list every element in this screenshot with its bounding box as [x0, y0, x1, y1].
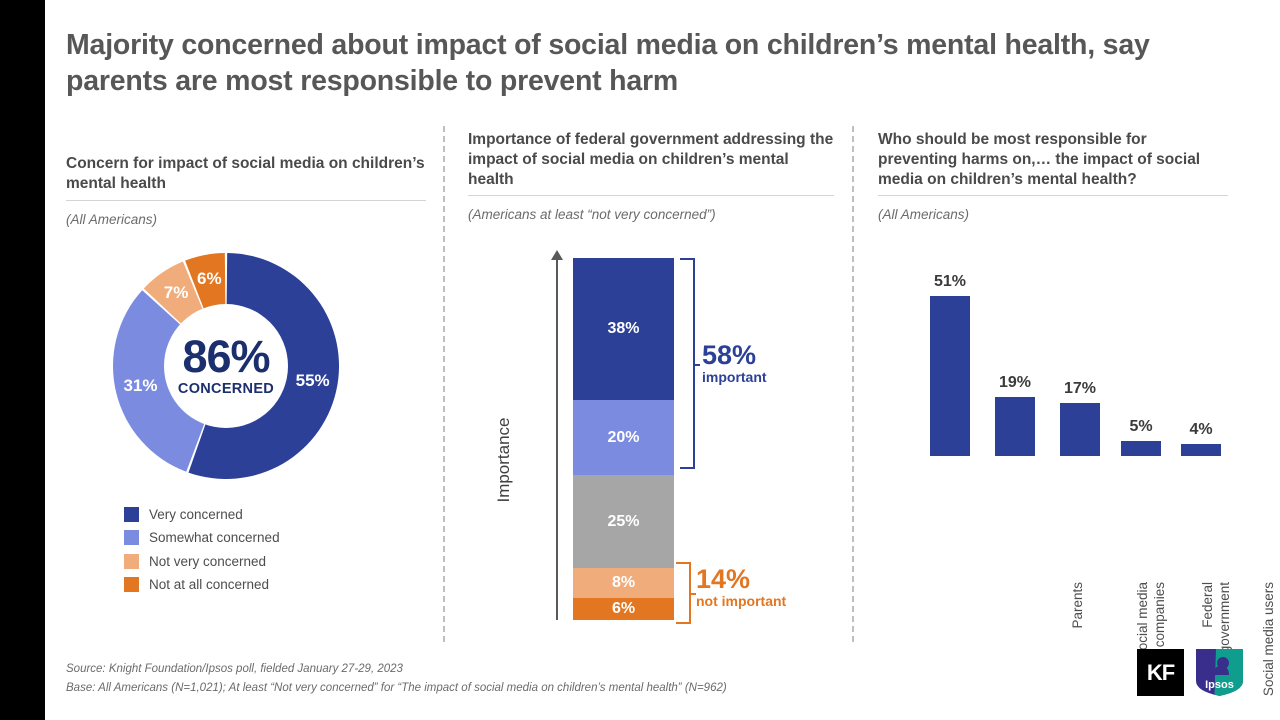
- stacked-bar: 38%20%25%8%6%: [573, 258, 674, 620]
- stack-segment: 20%: [573, 400, 674, 475]
- footer-source: Source: Knight Foundation/Ipsos poll, fi…: [66, 660, 727, 679]
- knight-foundation-logo: KF: [1137, 649, 1184, 696]
- donut-label-notvery: 7%: [164, 283, 189, 303]
- callout-not-important-caption: not important: [696, 594, 786, 609]
- donut-label-very: 55%: [296, 371, 330, 391]
- left-edge-strip: [0, 0, 45, 720]
- panel-importance-base: (Americans at least “not very concerned”…: [468, 207, 834, 222]
- panel-divider-2: [852, 126, 854, 642]
- panel-concern-heading: Concern for impact of social media on ch…: [66, 154, 426, 201]
- callout-important-value: 58%: [702, 342, 767, 369]
- callout-important-caption: important: [702, 370, 767, 385]
- legend-label: Not very concerned: [149, 554, 266, 569]
- page-title: Majority concerned about impact of socia…: [66, 28, 1226, 100]
- stack-segment: 8%: [573, 568, 674, 598]
- legend-item[interactable]: Somewhat concerned: [124, 530, 426, 545]
- donut-label-somewhat: 31%: [123, 376, 157, 396]
- bar-value-label: 5%: [1129, 418, 1152, 436]
- legend-label: Very concerned: [149, 507, 243, 522]
- bar: [1121, 441, 1161, 457]
- callout-important: 58% important: [702, 342, 767, 385]
- legend-swatch-icon: [124, 507, 139, 522]
- axis-line: [556, 258, 558, 620]
- legend-swatch-icon: [124, 577, 139, 592]
- panel-concern: Concern for impact of social media on ch…: [66, 130, 426, 601]
- bar: [1181, 444, 1221, 457]
- logo-group: KF Ipsos: [1137, 649, 1243, 696]
- bar-value-label: 19%: [999, 374, 1031, 392]
- bar-category-label: Parents: [1070, 582, 1087, 702]
- panel-divider-1: [443, 126, 445, 642]
- panel-importance-heading: Importance of federal government address…: [468, 130, 834, 196]
- stack-segment: 25%: [573, 475, 674, 568]
- bar: [930, 296, 970, 456]
- ipsos-logo-text: Ipsos: [1205, 679, 1234, 691]
- callout-not-important-value: 14%: [696, 566, 786, 593]
- donut-svg: [111, 251, 341, 481]
- panel-importance: Importance of federal government address…: [468, 130, 834, 640]
- panel-responsibility: Who should be most responsible for preve…: [878, 130, 1228, 628]
- footer-base: Base: All Americans (N=1,021); At least …: [66, 679, 727, 698]
- bar-value-label: 51%: [934, 273, 966, 291]
- stacked-bar-chart: Importance 38%20%25%8%6% 58% important 1…: [468, 250, 834, 640]
- stack-segment: 38%: [573, 258, 674, 400]
- legend-label: Somewhat concerned: [149, 530, 280, 545]
- stack-segment: 6%: [573, 598, 674, 620]
- bracket-not-important-tick: [689, 593, 696, 595]
- bar-column: 19%Social media companies: [995, 397, 1035, 457]
- bar: [1060, 403, 1100, 456]
- legend-swatch-icon: [124, 554, 139, 569]
- bracket-important-tick: [693, 364, 700, 366]
- legend-item[interactable]: Very concerned: [124, 507, 426, 522]
- panel-responsibility-heading: Who should be most responsible for preve…: [878, 130, 1228, 196]
- responsibility-bar-chart: 51%Parents19%Social media companies17%Fe…: [878, 248, 1228, 628]
- axis-title-importance: Importance: [494, 360, 514, 560]
- ipsos-logo: Ipsos: [1196, 649, 1243, 696]
- bar: [995, 397, 1035, 457]
- donut-chart: 55% 31% 7% 6% 86% CONCERNED: [111, 251, 341, 481]
- callout-not-important: 14% not important: [696, 566, 786, 609]
- donut-label-notatall: 6%: [197, 269, 222, 289]
- bar-column: 5%Social media users: [1121, 441, 1161, 457]
- bracket-important: [680, 258, 695, 469]
- bar-category-label: Social media users: [1261, 582, 1278, 702]
- legend-item[interactable]: Not very concerned: [124, 554, 426, 569]
- bar-column: 17%Federal government: [1060, 403, 1100, 456]
- legend-swatch-icon: [124, 530, 139, 545]
- bar-column: 51%Parents: [930, 296, 970, 456]
- bar-column: 4%State governments: [1181, 444, 1221, 457]
- bar-value-label: 17%: [1064, 380, 1096, 398]
- concern-legend: Very concernedSomewhat concernedNot very…: [124, 507, 426, 593]
- panel-responsibility-base: (All Americans): [878, 207, 1228, 222]
- legend-label: Not at all concerned: [149, 577, 269, 592]
- footer-notes: Source: Knight Foundation/Ipsos poll, fi…: [66, 660, 727, 698]
- legend-item[interactable]: Not at all concerned: [124, 577, 426, 592]
- panel-concern-base: (All Americans): [66, 212, 426, 227]
- bracket-not-important: [676, 562, 691, 624]
- ipsos-logo-svg: Ipsos: [1196, 649, 1243, 696]
- bar-value-label: 4%: [1189, 421, 1212, 439]
